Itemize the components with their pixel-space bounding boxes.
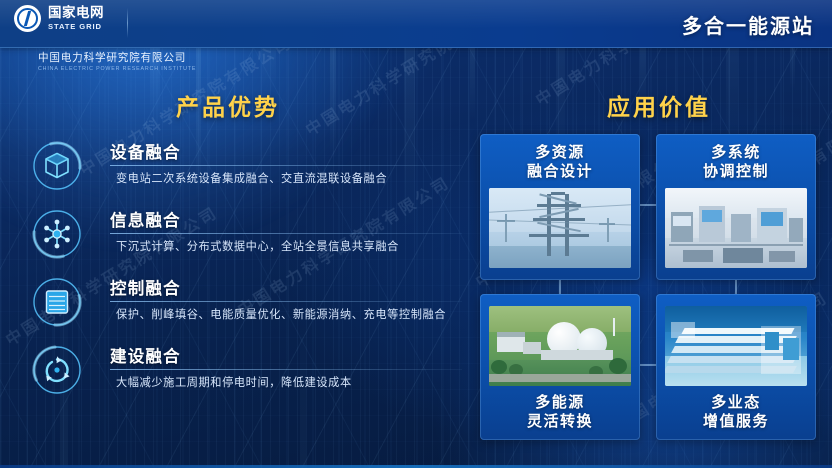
- cube-box-icon: [32, 141, 82, 191]
- value-card-multi-energy[interactable]: 多能源 灵活转换: [480, 294, 640, 440]
- company-block: 中国电力科学研究院有限公司 CHINA ELECTRIC POWER RESEA…: [38, 52, 196, 72]
- card-label: 多系统 协调控制: [656, 143, 816, 181]
- card-connector-vertical-right: [735, 280, 737, 294]
- feature-title: 设备融合: [110, 139, 181, 163]
- card-connector-horizontal-top: [640, 204, 656, 206]
- card-label-line1: 多业态: [656, 393, 816, 412]
- value-card-multi-business[interactable]: 多业态 增值服务: [656, 294, 816, 440]
- card-label-line1: 多资源: [480, 143, 640, 162]
- value-card-multi-resource[interactable]: 多资源 融合设计: [480, 134, 640, 280]
- card-label: 多资源 融合设计: [480, 143, 640, 181]
- card-connector-horizontal-bottom: [640, 364, 656, 366]
- feature-list: 设备融合 变电站二次系统设备集成融合、交直流混联设备融合: [26, 137, 466, 409]
- card-label-line2: 融合设计: [480, 162, 640, 181]
- slide-canvas: 中国电力科学研究院有限公司 中国电力科学研究院有限公司 中国电力科学研究院有限公…: [0, 0, 832, 468]
- control-room-equipment-photo: [665, 188, 807, 268]
- feature-divider: [110, 369, 462, 370]
- recycle-arrows-icon: [32, 345, 82, 395]
- feature-description: 下沉式计算、分布式数据中心，全站全景信息共享融合: [116, 238, 399, 254]
- feature-item-construction: 建设融合 大幅减少施工周期和停电时间，降低建设成本: [26, 341, 466, 409]
- feature-item-equipment: 设备融合 变电站二次系统设备集成融合、交直流混联设备融合: [26, 137, 466, 205]
- page-title: 多合一能源站: [682, 10, 814, 39]
- card-label-line1: 多系统: [656, 143, 816, 162]
- logo-name-cn: 国家电网: [48, 6, 104, 20]
- feature-divider: [110, 301, 462, 302]
- slide-header: 国家电网 STATE GRID 多合一能源站: [0, 0, 832, 48]
- header-divider: [127, 8, 128, 38]
- company-name-en: CHINA ELECTRIC POWER RESEARCH INSTITUTE: [38, 66, 196, 72]
- card-label: 多业态 增值服务: [656, 393, 816, 431]
- feature-description: 变电站二次系统设备集成融合、交直流混联设备融合: [116, 170, 387, 186]
- feature-divider: [110, 233, 462, 234]
- feature-title: 信息融合: [110, 207, 181, 231]
- section-title-product-advantages: 产品优势: [176, 88, 280, 122]
- feature-description: 大幅减少施工周期和停电时间，降低建设成本: [116, 374, 352, 390]
- value-card-multi-system[interactable]: 多系统 协调控制: [656, 134, 816, 280]
- card-label-line2: 增值服务: [656, 412, 816, 431]
- server-cabinet-icon: [32, 277, 82, 327]
- card-connector-vertical-left: [559, 280, 561, 294]
- logo-name-en: STATE GRID: [48, 23, 104, 31]
- card-label-line2: 灵活转换: [480, 412, 640, 431]
- feature-description: 保护、削峰填谷、电能质量优化、新能源消纳、充电等控制融合: [116, 306, 446, 322]
- card-label-line2: 协调控制: [656, 162, 816, 181]
- energy-station-site-photo: [489, 306, 631, 386]
- feature-item-control: 控制融合 保护、削峰填谷、电能质量优化、新能源消纳、充电等控制融合: [26, 273, 466, 341]
- feature-item-information: 信息融合 下沉式计算、分布式数据中心，全站全景信息共享融合: [26, 205, 466, 273]
- card-label-line1: 多能源: [480, 393, 640, 412]
- value-card-grid: 多资源 融合设计: [480, 134, 816, 444]
- card-label: 多能源 灵活转换: [480, 393, 640, 431]
- feature-divider: [110, 165, 462, 166]
- brand-logo: 国家电网 STATE GRID: [14, 5, 104, 32]
- feature-title: 控制融合: [110, 275, 181, 299]
- section-title-application-value: 应用价值: [607, 88, 711, 122]
- transmission-tower-photo: [489, 188, 631, 268]
- snowflake-network-icon: [32, 209, 82, 259]
- 3d-equipment-hall-photo: [665, 306, 807, 386]
- feature-title: 建设融合: [110, 343, 181, 367]
- state-grid-logo-icon: [14, 5, 41, 32]
- company-name-cn: 中国电力科学研究院有限公司: [38, 52, 196, 64]
